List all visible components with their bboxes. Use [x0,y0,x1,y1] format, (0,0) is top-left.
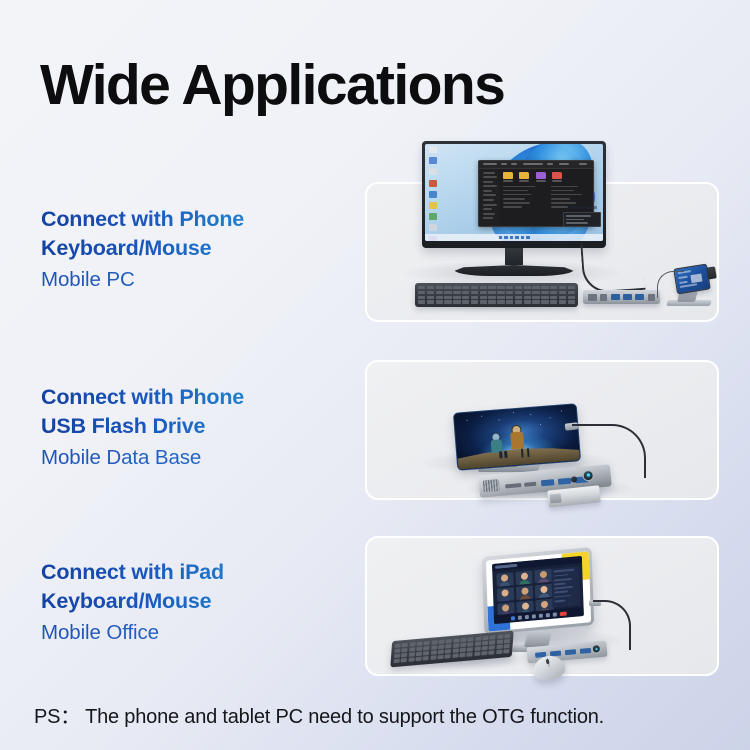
windows-taskbar[interactable] [425,234,603,241]
share-screen-icon[interactable] [539,613,543,617]
participant-tile[interactable] [496,573,514,588]
participant-tile[interactable] [535,584,553,599]
monitor-neck [505,248,523,265]
scene-monitor-setup [367,120,717,320]
participant-tile[interactable] [515,571,533,586]
footnote: PS： The phone and tablet PC need to supp… [34,700,604,729]
chat-icon[interactable] [532,614,536,618]
folder-row [503,172,590,182]
feature-headline-line1: Connect with iPad [41,558,351,587]
feature-subtitle: Mobile Data Base [41,443,351,472]
feature-headline-line2: USB Flash Drive [41,412,351,441]
participant-tile[interactable] [535,569,553,584]
hdmi-cable [580,240,645,294]
phone-cable [657,271,684,298]
scroll-wheel-icon [546,659,550,665]
feature-headline-line2: Keyboard/Mouse [41,234,351,263]
explorer-sidebar [479,169,500,227]
feature-text-block-2: Connect with Phone USB Flash Drive Mobil… [41,383,351,472]
feature-headline-line2: Keyboard/Mouse [41,587,351,616]
mic-icon[interactable] [511,616,515,620]
participant-tile[interactable] [516,586,534,601]
feature-headline-line1: Connect with Phone [41,383,351,412]
power-indicator [591,644,601,654]
scene-phone-flashdrive: ORICO [367,298,717,498]
more-icon[interactable] [553,612,557,616]
page-title: Wide Applications [40,57,504,114]
monitor [422,141,606,276]
scene-ipad-office [367,474,717,674]
monitor-base [454,265,574,276]
monitor-screen [425,144,603,241]
watermark [569,206,597,209]
participants-icon[interactable] [525,614,529,618]
tablet [482,547,594,635]
system-tray-popup [563,212,601,227]
tablet-screen [485,551,590,631]
smartphone-landscape [453,403,581,471]
camera-icon[interactable] [518,615,522,619]
feature-text-block-3: Connect with iPad Keyboard/Mouse Mobile … [41,558,351,647]
video-call-app [492,556,584,624]
participant-tile[interactable] [497,588,515,603]
record-icon[interactable] [546,613,550,617]
product-photo-card-3 [365,536,719,676]
poster-canvas: Wide Applications Connect with Phone Key… [0,0,750,750]
feature-text-block-1: Connect with Phone Keyboard/Mouse Mobile… [41,205,351,294]
end-call-button[interactable] [560,611,567,616]
chat-sidebar[interactable] [551,567,580,608]
explorer-toolbar [479,161,593,169]
feature-subtitle: Mobile Office [41,618,351,647]
feature-subtitle: Mobile PC [41,265,351,294]
monitor-bezel [422,141,606,248]
desktop-icons [427,146,439,241]
feature-headline-line1: Connect with Phone [41,205,351,234]
